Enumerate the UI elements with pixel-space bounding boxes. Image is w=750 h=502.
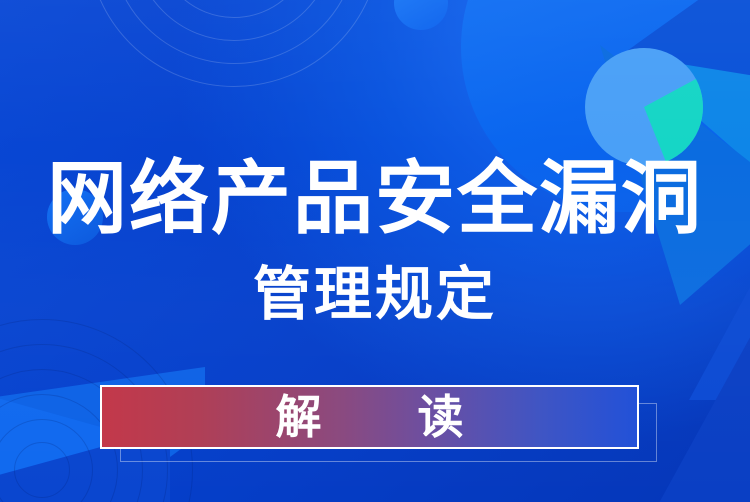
page-title: 网络产品安全漏洞 [0, 159, 750, 239]
poster-content: 网络产品安全漏洞 管理规定 解 读 [0, 0, 750, 502]
interpretation-banner[interactable]: 解 读 [100, 385, 639, 449]
page-subtitle: 管理规定 [0, 265, 750, 323]
poster-banner: 网络产品安全漏洞 管理规定 解 读 [0, 0, 750, 502]
interpretation-label: 解 读 [235, 394, 503, 440]
